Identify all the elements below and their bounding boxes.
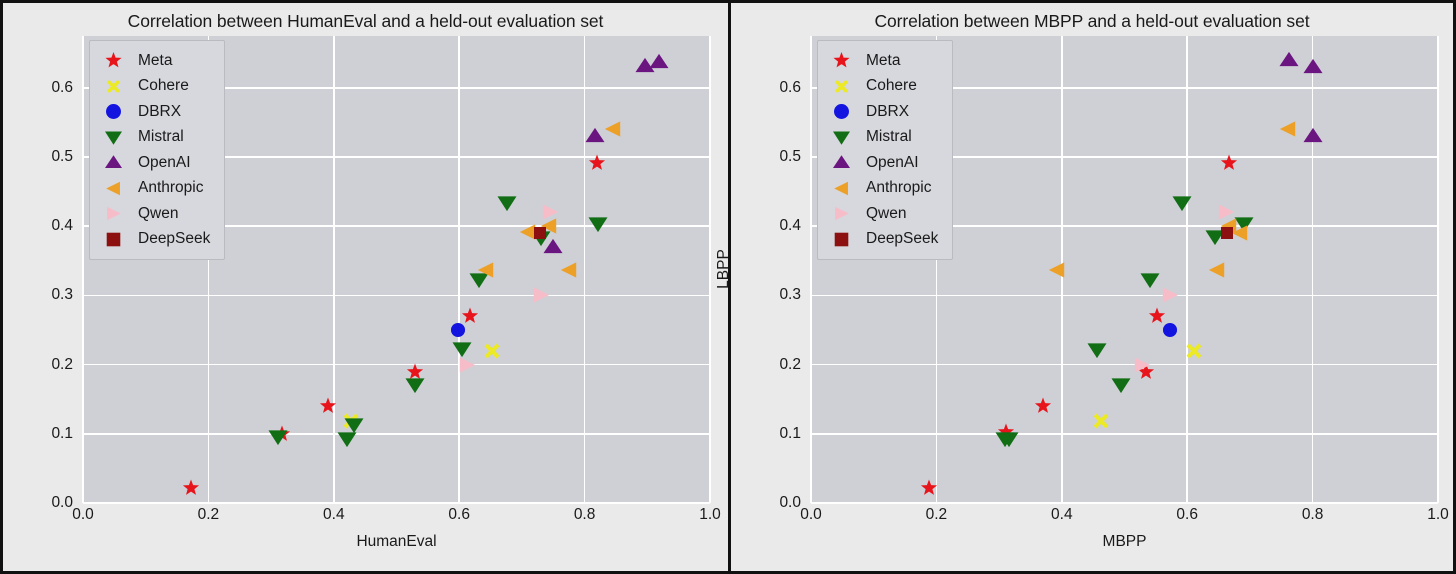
- x-tick-label: 0.2: [198, 506, 220, 524]
- x-icon: [826, 78, 856, 95]
- x-tick-label: 0.6: [1176, 506, 1198, 524]
- legend-item-label: Mistral: [138, 128, 184, 146]
- legend-item-anthropic[interactable]: Anthropic: [98, 176, 210, 202]
- data-point-meta: [920, 479, 937, 496]
- legend-item-anthropic[interactable]: Anthropic: [826, 176, 938, 202]
- legend-item-label: Anthropic: [138, 179, 203, 197]
- legend-item-label: DBRX: [138, 103, 181, 121]
- data-point-openai: [586, 127, 605, 146]
- y-tick-label: 0.3: [779, 286, 801, 304]
- legend-item-label: DBRX: [866, 103, 909, 121]
- data-point-openai: [1303, 127, 1322, 146]
- legend-item-label: Cohere: [138, 77, 189, 95]
- x-tick-label: 0.8: [574, 506, 596, 524]
- panel-humaneval: Correlation between HumanEval and a held…: [3, 3, 728, 571]
- data-point-openai: [1303, 58, 1322, 77]
- data-point-meta: [1220, 155, 1237, 172]
- x-tick-label: 0.0: [72, 506, 94, 524]
- y-axis-label: LBPP: [715, 249, 733, 289]
- triangle-up-icon: [98, 154, 128, 171]
- legend-item-openai[interactable]: OpenAI: [98, 150, 210, 176]
- legend-item-label: Qwen: [866, 205, 907, 223]
- star-icon: [826, 52, 856, 69]
- y-tick-label: 0.3: [51, 286, 73, 304]
- data-point-mistral: [1140, 271, 1159, 290]
- data-point-cohere: [1185, 342, 1204, 361]
- x-tick-label: 0.0: [800, 506, 822, 524]
- legend-item-label: OpenAI: [866, 154, 919, 172]
- legend-item-meta[interactable]: Meta: [98, 48, 210, 74]
- y-tick-label: 0.4: [779, 217, 801, 235]
- data-point-qwen: [1133, 356, 1152, 375]
- panel-mbpp: Correlation between MBPP and a held-out …: [728, 3, 1453, 571]
- panel-title: Correlation between HumanEval and a held…: [3, 11, 728, 32]
- square-icon: [826, 231, 856, 248]
- x-axis-label: MBPP: [811, 533, 1438, 551]
- legend-item-label: Qwen: [138, 205, 179, 223]
- data-point-mistral: [1000, 430, 1019, 449]
- y-axis-label: LBPP: [0, 249, 5, 289]
- legend-item-label: DeepSeek: [138, 230, 210, 248]
- data-point-anthropic: [1047, 260, 1066, 279]
- gridline-horizontal: [83, 295, 710, 297]
- triangle-down-icon: [98, 129, 128, 146]
- x-tick-label: 0.6: [448, 506, 470, 524]
- x-tick-label: 0.4: [323, 506, 345, 524]
- data-point-anthropic: [603, 120, 622, 139]
- legend: MetaCohereDBRXMistralOpenAIAnthropicQwen…: [89, 40, 225, 260]
- gridline-horizontal: [83, 433, 710, 435]
- data-point-openai: [1280, 51, 1299, 70]
- x-tick-label: 0.4: [1051, 506, 1073, 524]
- y-tick-label: 0.5: [51, 148, 73, 166]
- data-point-openai: [649, 53, 668, 72]
- data-point-mistral: [1173, 193, 1192, 212]
- y-tick-label: 0.2: [51, 356, 73, 374]
- data-point-qwen: [1217, 202, 1236, 221]
- data-point-deepseek: [533, 226, 548, 241]
- legend-item-mistral[interactable]: Mistral: [98, 125, 210, 151]
- legend-item-label: Meta: [138, 52, 172, 70]
- legend-item-mistral[interactable]: Mistral: [826, 125, 938, 151]
- x-icon: [98, 78, 128, 95]
- data-point-qwen: [541, 202, 560, 221]
- data-point-qwen: [531, 286, 550, 305]
- data-point-anthropic: [1279, 120, 1298, 139]
- x-tick-label: 0.8: [1302, 506, 1324, 524]
- plot-area: MetaCohereDBRXMistralOpenAIAnthropicQwen…: [83, 36, 710, 503]
- y-tick-label: 0.1: [779, 425, 801, 443]
- legend-item-deepseek[interactable]: DeepSeek: [826, 227, 938, 253]
- data-point-dbrx: [1162, 322, 1178, 338]
- legend-item-label: Cohere: [866, 77, 917, 95]
- data-point-meta: [182, 479, 199, 496]
- data-point-meta: [319, 398, 336, 415]
- legend-item-label: Anthropic: [866, 179, 931, 197]
- legend-item-openai[interactable]: OpenAI: [826, 150, 938, 176]
- y-tick-label: 0.0: [779, 494, 801, 512]
- gridline-horizontal: [811, 295, 1438, 297]
- legend-item-dbrx[interactable]: DBRX: [98, 99, 210, 125]
- legend-item-label: Mistral: [866, 128, 912, 146]
- triangle-right-icon: [98, 205, 128, 222]
- data-point-cohere: [482, 342, 501, 361]
- gridline-horizontal: [811, 502, 1438, 504]
- legend-item-qwen[interactable]: Qwen: [826, 201, 938, 227]
- plot-area: MetaCohereDBRXMistralOpenAIAnthropicQwen…: [811, 36, 1438, 503]
- legend-item-label: OpenAI: [138, 154, 191, 172]
- data-point-meta: [1034, 398, 1051, 415]
- legend: MetaCohereDBRXMistralOpenAIAnthropicQwen…: [817, 40, 953, 260]
- y-tick-label: 0.4: [51, 217, 73, 235]
- data-point-anthropic: [1208, 260, 1227, 279]
- data-point-cohere: [1091, 411, 1110, 430]
- data-point-mistral: [268, 428, 287, 447]
- data-point-mistral: [344, 415, 363, 434]
- legend-item-label: Meta: [866, 52, 900, 70]
- triangle-left-icon: [826, 180, 856, 197]
- data-point-qwen: [458, 356, 477, 375]
- data-point-mistral: [1111, 376, 1130, 395]
- data-point-anthropic: [559, 260, 578, 279]
- y-tick-label: 0.2: [779, 356, 801, 374]
- data-point-mistral: [406, 375, 425, 394]
- y-tick-label: 0.0: [51, 494, 73, 512]
- triangle-left-icon: [98, 180, 128, 197]
- data-point-meta: [589, 155, 606, 172]
- circle-icon: [98, 103, 128, 120]
- data-point-mistral: [497, 193, 516, 212]
- triangle-up-icon: [826, 154, 856, 171]
- x-tick-label: 0.2: [926, 506, 948, 524]
- legend-item-meta[interactable]: Meta: [826, 48, 938, 74]
- gridline-horizontal: [811, 433, 1438, 435]
- gridline-horizontal: [83, 502, 710, 504]
- star-icon: [98, 52, 128, 69]
- legend-item-deepseek[interactable]: DeepSeek: [98, 227, 210, 253]
- x-axis-label: HumanEval: [83, 533, 710, 551]
- data-point-anthropic: [477, 260, 496, 279]
- gridline-horizontal: [811, 364, 1438, 366]
- figure-root: Correlation between HumanEval and a held…: [0, 0, 1456, 574]
- y-tick-label: 0.6: [779, 79, 801, 97]
- data-point-qwen: [1161, 286, 1180, 305]
- legend-item-dbrx[interactable]: DBRX: [826, 99, 938, 125]
- x-tick-label: 1.0: [1427, 506, 1449, 524]
- data-point-mistral: [589, 215, 608, 234]
- legend-item-cohere[interactable]: Cohere: [98, 74, 210, 100]
- y-tick-label: 0.1: [51, 425, 73, 443]
- y-tick-label: 0.6: [51, 79, 73, 97]
- x-tick-label: 1.0: [699, 506, 721, 524]
- gridline-horizontal: [83, 364, 710, 366]
- triangle-right-icon: [826, 205, 856, 222]
- y-tick-label: 0.5: [779, 148, 801, 166]
- legend-item-label: DeepSeek: [866, 230, 938, 248]
- circle-icon: [826, 103, 856, 120]
- legend-item-cohere[interactable]: Cohere: [826, 74, 938, 100]
- square-icon: [98, 231, 128, 248]
- data-point-dbrx: [450, 322, 466, 338]
- panel-title: Correlation between MBPP and a held-out …: [731, 11, 1453, 32]
- data-point-deepseek: [1219, 226, 1234, 241]
- legend-item-qwen[interactable]: Qwen: [98, 201, 210, 227]
- data-point-mistral: [1087, 341, 1106, 360]
- triangle-down-icon: [826, 129, 856, 146]
